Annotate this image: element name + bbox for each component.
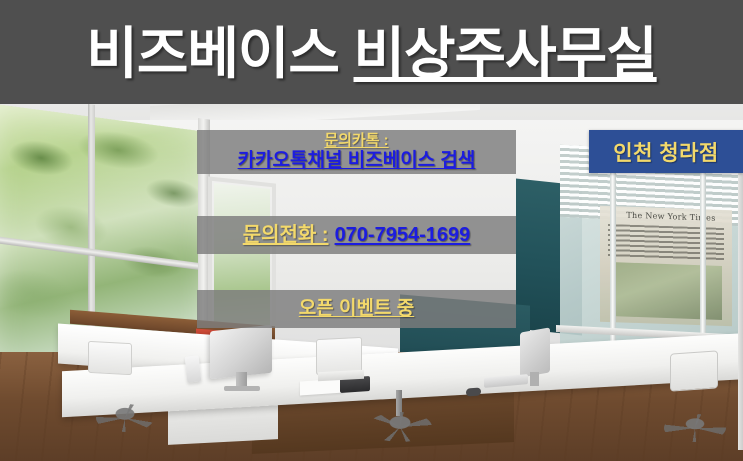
phone-number[interactable]: 070-7954-1699 <box>335 224 471 246</box>
title-brand: 비즈베이스 <box>86 22 353 85</box>
newspaper-text-lines <box>608 224 724 262</box>
office-chair-right-back <box>670 350 718 391</box>
page-title: 비즈베이스 비상주사무실 <box>86 26 656 82</box>
header-bar: 비즈베이스 비상주사무실 <box>0 0 743 104</box>
phone-row: 문의전화 : 070-7954-1699 <box>243 224 471 246</box>
phone-label: 문의전화 : <box>243 224 329 246</box>
kakao-channel-text: 카카오톡채널 비즈베이스 검색 <box>238 150 476 171</box>
title-service: 비상주사무실 <box>354 22 657 85</box>
imac-stand-right <box>530 372 539 386</box>
mouse <box>466 387 481 396</box>
office-chair-center-base <box>368 412 432 442</box>
office-chair-left-base <box>96 404 154 432</box>
small-tablet <box>185 355 202 382</box>
branch-badge-label: 인천 청라점 <box>613 137 718 167</box>
imac-monitor-right <box>520 327 550 377</box>
imac-foot-left <box>224 386 260 391</box>
newspaper-graphic: The New York Times <box>600 206 732 327</box>
partition-post <box>738 150 743 450</box>
open-event-text: 오픈 이벤트 중 <box>299 298 414 319</box>
office-chair-right-base <box>664 414 726 442</box>
kakao-contact-box[interactable]: 문의카톡 : 카카오톡채널 비즈베이스 검색 <box>197 130 516 174</box>
phone-contact-box[interactable]: 문의전화 : 070-7954-1699 <box>197 216 516 254</box>
promotional-banner: The New York Times <box>0 0 743 461</box>
open-event-box[interactable]: 오픈 이벤트 중 <box>197 290 516 328</box>
office-chair-left-back <box>88 341 132 375</box>
branch-badge[interactable]: 인천 청라점 <box>589 130 743 173</box>
newspaper-masthead: The New York Times <box>616 210 726 223</box>
kakao-label: 문의카톡 : <box>324 133 388 150</box>
